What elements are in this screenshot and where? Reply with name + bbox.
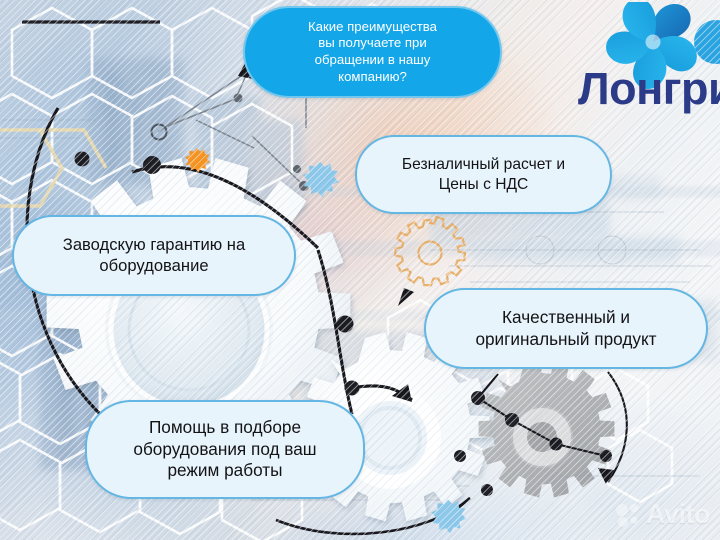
avito-label: Avito xyxy=(646,499,710,530)
avito-watermark: Avito xyxy=(615,499,710,530)
bubble-cashless-payment: Безналичный расчет и Цены с НДС xyxy=(355,135,612,214)
brand-wordmark: Лонгри xyxy=(578,63,720,115)
bubble-factory-warranty: Заводскую гарантию на оборудование xyxy=(12,215,296,296)
infographic-canvas: Лонгри Какие преимущества вы получаете п… xyxy=(0,0,720,540)
bubble-quality-product: Качественный и оригинальный продукт xyxy=(424,288,708,369)
avito-dots-icon xyxy=(615,502,641,528)
bubble-question: Какие преимущества вы получаете при обра… xyxy=(243,6,502,98)
bubble-equipment-selection-help: Помощь в подборе оборудования под ваш ре… xyxy=(85,400,365,499)
